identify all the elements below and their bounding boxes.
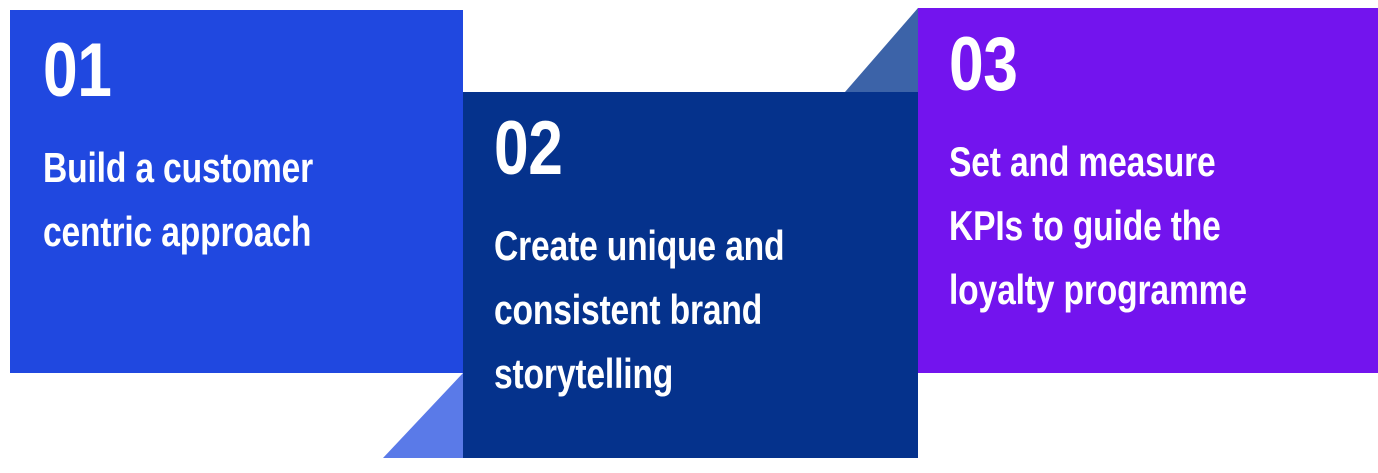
steps-infographic: 01 Build a customer centric approach 02 …: [0, 0, 1378, 473]
step-card-2[interactable]: 02 Create unique and consistent brand st…: [463, 92, 918, 458]
fold-triangle-lower: [383, 373, 463, 458]
step-number-1: 01: [43, 36, 112, 106]
step-title-3: Set and measure KPIs to guide the loyalt…: [949, 130, 1285, 321]
step-card-1[interactable]: 01 Build a customer centric approach: [10, 10, 463, 373]
step-number-3: 03: [949, 30, 1018, 100]
step-card-3[interactable]: 03 Set and measure KPIs to guide the loy…: [918, 8, 1378, 373]
step-title-1: Build a customer centric approach: [43, 136, 363, 264]
step-title-2: Create unique and consistent brand story…: [494, 214, 814, 405]
step-number-2: 02: [494, 114, 563, 184]
fold-triangle-upper: [845, 8, 918, 92]
